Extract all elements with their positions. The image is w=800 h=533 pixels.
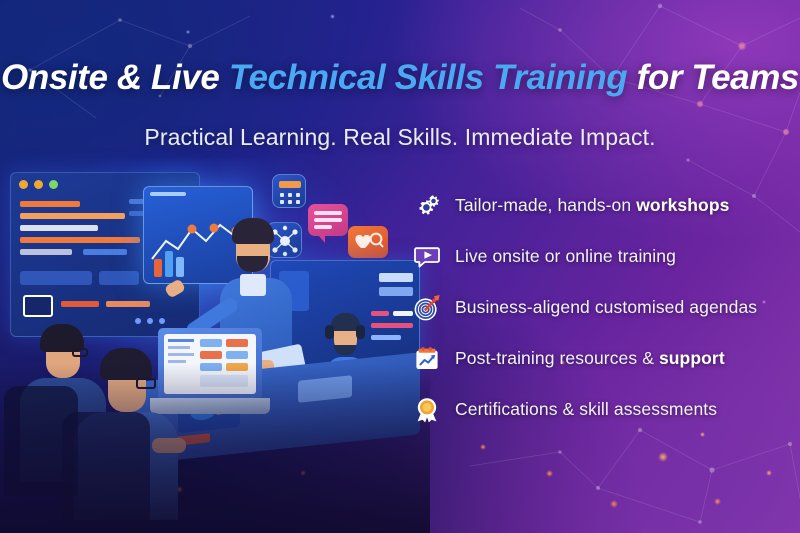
feature-label: Post-training resources & support bbox=[455, 348, 725, 369]
feature-item-support: Post-training resources & support bbox=[412, 333, 800, 384]
social-heart-card bbox=[348, 226, 388, 258]
chat-bubble-card bbox=[308, 204, 348, 236]
attendee-figure-left bbox=[18, 320, 110, 480]
analytics-chart-screen bbox=[143, 186, 253, 284]
video-chat-icon bbox=[412, 242, 442, 272]
attendee-figure-center bbox=[74, 346, 184, 516]
title-part-1: Onsite & Live bbox=[1, 58, 229, 97]
page-subtitle: Practical Learning. Real Skills. Immedia… bbox=[0, 124, 800, 151]
feature-item-agendas: Business-aligend customised agendas bbox=[412, 282, 800, 333]
feature-item-certifications: Certifications & skill assessments bbox=[412, 384, 800, 435]
feature-label: Live onsite or online training bbox=[455, 246, 676, 267]
attendee-laptop bbox=[150, 328, 270, 438]
network-node-card bbox=[266, 222, 302, 258]
training-session-illustration bbox=[0, 150, 420, 533]
feature-list: Tailor-made, hands-on workshops Live ons… bbox=[412, 180, 800, 435]
title-part-3: for Teams bbox=[627, 58, 799, 97]
award-ribbon-icon bbox=[412, 395, 442, 425]
dashboard-window bbox=[10, 172, 200, 337]
target-dart-icon bbox=[412, 293, 442, 323]
feature-item-workshops: Tailor-made, hands-on workshops bbox=[412, 180, 800, 231]
desk-keyboard bbox=[298, 375, 352, 403]
feature-label: Business-aligend customised agendas bbox=[455, 297, 757, 318]
feature-label: Tailor-made, hands-on workshops bbox=[455, 195, 729, 216]
page-title: Onsite & Live Technical Skills Training … bbox=[0, 58, 800, 98]
desk-surface bbox=[120, 352, 420, 466]
title-accent: Technical Skills Training bbox=[229, 58, 627, 97]
video-call-monitor bbox=[270, 260, 420, 372]
presenter-figure bbox=[196, 208, 306, 398]
gears-icon bbox=[412, 191, 442, 221]
desk-tablet bbox=[178, 393, 240, 434]
calculator-card bbox=[272, 174, 306, 208]
feature-label: Certifications & skill assessments bbox=[455, 399, 717, 420]
hero-banner: Onsite & Live Technical Skills Training … bbox=[0, 0, 800, 533]
feature-item-live-training: Live onsite or online training bbox=[412, 231, 800, 282]
clipboard-chart-icon bbox=[412, 344, 442, 374]
